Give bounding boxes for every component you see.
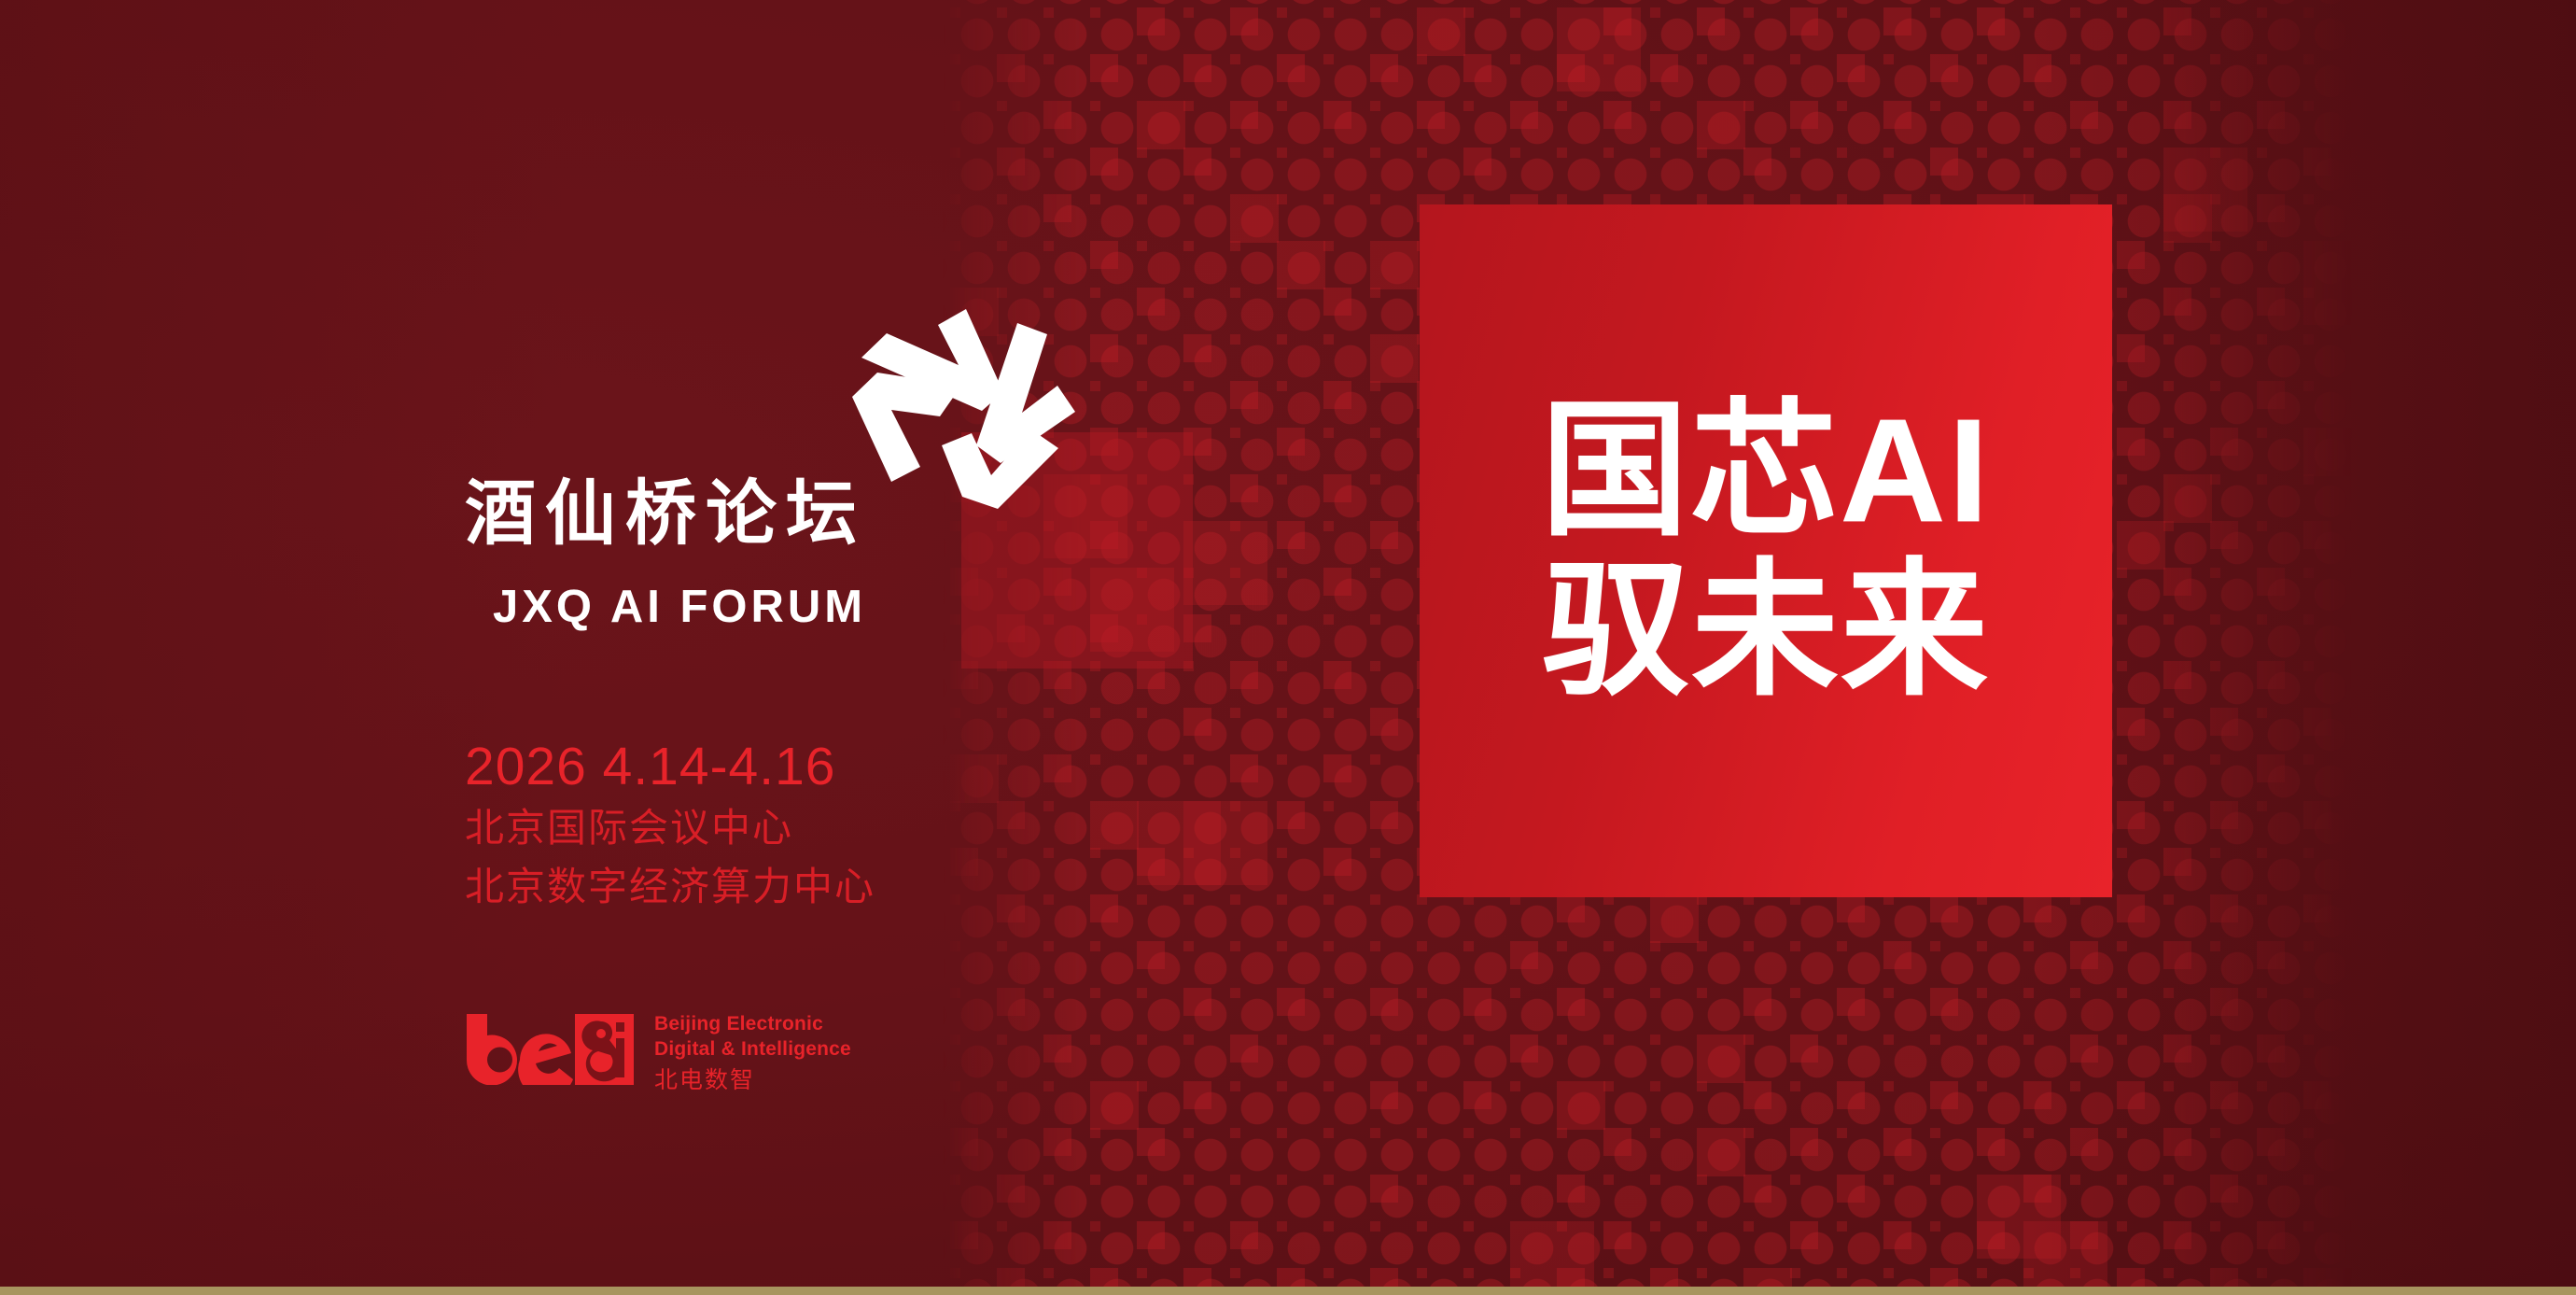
be-and-i-logomark-icon [465, 1010, 636, 1085]
info-column: 酒仙桥论坛 JXQ AI FORUM 2026 4.14-4.16 北京国际会议… [463, 0, 1172, 1295]
pinwheel-arrows-icon [848, 296, 1078, 509]
headline-text: 国芯AI 驭未来 [1541, 391, 1991, 710]
sponsor-name-en-1: Beijing Electronic [654, 1012, 851, 1037]
event-venue-1: 北京国际会议中心 [465, 809, 793, 848]
sponsor-logo: Beijing Electronic Digital & Intelligenc… [465, 1010, 851, 1097]
forum-title-cn: 酒仙桥论坛 [465, 479, 866, 550]
background-vignette [0, 0, 2576, 1295]
sponsor-name-cn: 北电数智 [654, 1065, 851, 1097]
bottom-accent-band [0, 1287, 2576, 1295]
event-poster: 国芯AI 驭未来 酒仙桥论坛 JXQ AI FORUM 2026 4.14-4.… [0, 0, 2576, 1295]
headline-line-1: 国芯AI [1541, 391, 1991, 551]
sponsor-name-block: Beijing Electronic Digital & Intelligenc… [654, 1010, 851, 1097]
forum-title-en: JXQ AI FORUM [493, 584, 866, 630]
event-date: 2026 4.14-4.16 [465, 740, 836, 794]
headline-line-2: 驭未来 [1541, 551, 1991, 711]
event-venue-2: 北京数字经济算力中心 [465, 867, 875, 907]
headline-panel: 国芯AI 驭未来 [1420, 204, 2112, 897]
sponsor-name-en-2: Digital & Intelligence [654, 1037, 851, 1063]
